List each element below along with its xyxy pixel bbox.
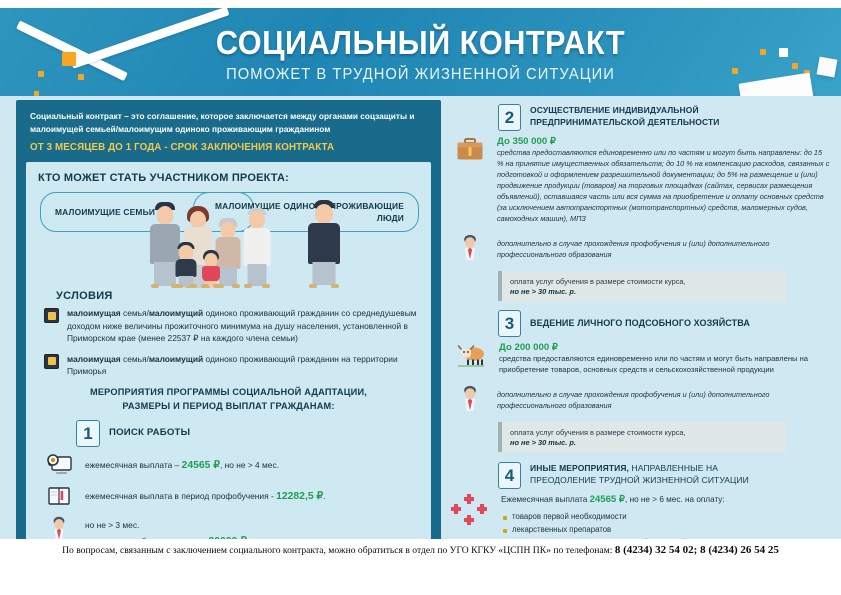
section-4-label-line2: ПРЕОДОЛЕНИЕ ТРУДНОЙ ЖИЗНЕННОЙ СИТУАЦИИ xyxy=(530,475,749,487)
section-4-number: 4 xyxy=(498,462,521,489)
section-1-label: ПОИСК РАБОТЫ xyxy=(109,427,190,439)
section-3-note-box: оплата услуг обучения в размере стоимост… xyxy=(498,422,786,452)
section-3-description: средства предоставляются единовременно и… xyxy=(499,353,830,376)
head xyxy=(157,206,174,225)
torso xyxy=(202,266,220,282)
condition-text-2: малоимущая семья/малоимущий одиноко прож… xyxy=(67,353,419,378)
section-2-extra-body: дополнительно в случае прохождения профо… xyxy=(497,234,830,264)
footer-text: По вопросам, связанным с заключением соц… xyxy=(62,544,779,556)
payment-row-1: ежемесячная выплата – 24565 ₽, но не > 4… xyxy=(46,454,419,478)
head xyxy=(205,253,218,267)
section-3-amount: 200 000 ₽ xyxy=(514,342,557,353)
head xyxy=(179,245,194,260)
left-panel-body: КТО МОЖЕТ СТАТЬ УЧАСТНИКОМ ПРОЕКТА: МАЛО… xyxy=(26,162,431,550)
shoe-right xyxy=(262,284,270,288)
list-item: лекарственных препаратов xyxy=(501,524,830,537)
condition-text-1: малоимущая семья/малоимущий одиноко прож… xyxy=(67,307,419,345)
legs xyxy=(154,262,176,286)
section-1-header: 1 ПОИСК РАБОТЫ xyxy=(76,420,419,447)
section-2-content: До 350 000 ₽ средства предоставляются ед… xyxy=(455,136,830,225)
top-white-stripe xyxy=(0,0,841,8)
family-people-graphic xyxy=(138,196,368,288)
section-2-note-line2: но не > 30 тыс. р. xyxy=(510,287,778,296)
decor-square-orange-4 xyxy=(34,91,39,96)
section-4-header: 4 ИНЫЕ МЕРОПРИЯТИЯ, НАПРАВЛЕННЫЕ НА ПРЕО… xyxy=(498,462,830,489)
section-3-label: ВЕДЕНИЕ ЛИЧНОГО ПОДСОБНОГО ХОЗЯЙСТВА xyxy=(530,316,750,330)
shoe-left xyxy=(244,284,252,288)
section-3-note-line1: оплата услуг обучения в размере стоимост… xyxy=(510,427,778,438)
who-can-participate-title: КТО МОЖЕТ СТАТЬ УЧАСТНИКОМ ПРОЕКТА: xyxy=(38,172,419,184)
person-tie-icon xyxy=(46,516,72,540)
section-4-label: ИНЫЕ МЕРОПРИЯТИЯ, НАПРАВЛЕННЫЕ НА ПРЕОДО… xyxy=(530,462,749,487)
measures-title-line2: РАЗМЕРЫ И ПЕРИОД ВЫПЛАТ ГРАЖДАНАМ: xyxy=(38,400,419,414)
section-2-note-line1: оплата услуг обучения в размере стоимост… xyxy=(510,276,778,287)
section-2-amount-line: До 350 000 ₽ xyxy=(497,136,830,147)
payment-text-2: ежемесячная выплата в период профобучени… xyxy=(85,485,325,505)
payment-text-1: ежемесячная выплата – 24565 ₽, но не > 4… xyxy=(85,454,279,474)
checkbox-checked-icon xyxy=(44,354,59,369)
section-4-payment-line: Ежемесячная выплата 24565 ₽, но не > 6 м… xyxy=(501,493,830,508)
shoe-right xyxy=(331,284,339,288)
section-2-description: средства предоставляются единовременно и… xyxy=(497,147,830,225)
section-3-extra-text: дополнительно в случае прохождения профо… xyxy=(497,385,830,411)
person-girl xyxy=(200,250,222,288)
infographic-page: СОЦИАЛЬНЫЙ КОНТРАКТ ПОМОЖЕТ В ТРУДНОЙ ЖИ… xyxy=(0,0,841,595)
head xyxy=(315,204,333,224)
right-column: 2 ОСУЩЕСТВЛЕНИЕ ИНДИВИДУАЛЬНОЙ ПРЕДПРИНИ… xyxy=(455,104,830,575)
legs xyxy=(248,264,267,286)
shoe-right xyxy=(232,284,240,288)
conditions-title: УСЛОВИЯ xyxy=(56,290,419,302)
section-2-amount: 350 000 ₽ xyxy=(512,136,555,147)
section-3-amount-line: До 200 000 ₽ xyxy=(499,342,830,353)
shoe-right xyxy=(189,284,197,288)
section-3-content: До 200 000 ₽ средства предоставляются ед… xyxy=(455,342,830,376)
torso xyxy=(176,259,197,277)
section-2-extra-text: дополнительно в случае прохождения профо… xyxy=(497,234,830,260)
checkbox-checked-icon xyxy=(44,308,59,323)
list-item: товаров первой необходимости xyxy=(501,511,830,524)
footer-phones: 8 (4234) 32 54 02; 8 (4234) 26 54 25 xyxy=(615,544,779,556)
page-subtitle: ПОМОЖЕТ В ТРУДНОЙ ЖИЗНЕННОЙ СИТУАЦИИ xyxy=(21,66,820,84)
section-3-number: 3 xyxy=(498,310,521,337)
header-banner: СОЦИАЛЬНЫЙ КОНТРАКТ ПОМОЖЕТ В ТРУДНОЙ ЖИ… xyxy=(0,8,841,96)
measures-title: МЕРОПРИЯТИЯ ПРОГРАММЫ СОЦИАЛЬНОЙ АДАПТАЦ… xyxy=(38,386,419,414)
section-2-header: 2 ОСУЩЕСТВЛЕНИЕ ИНДИВИДУАЛЬНОЙ ПРЕДПРИНИ… xyxy=(498,104,830,131)
condition-row-2: малоимущая семья/малоимущий одиноко прож… xyxy=(44,353,419,378)
shoe-left xyxy=(175,284,183,288)
torso xyxy=(244,228,271,266)
intro-text: Социальный контракт – это соглашение, ко… xyxy=(30,110,427,136)
section-2-note-box: оплата услуг обучения в размере стоимост… xyxy=(498,271,786,301)
section-2-label-line2: ПРЕДПРИНИМАТЕЛЬСКОЙ ДЕЯТЕЛЬНОСТИ xyxy=(530,117,720,129)
medical-crosses-icon xyxy=(449,493,489,527)
person-boy xyxy=(174,242,198,288)
payment-text-3-line1: но не > 3 мес. xyxy=(85,519,247,533)
section-4-label-line1: ИНЫЕ МЕРОПРИЯТИЯ, НАПРАВЛЕННЫЕ НА xyxy=(530,463,749,475)
monitor-search-icon xyxy=(46,454,72,478)
shoe-left xyxy=(151,284,159,288)
payment-amount-1: 24565 ₽ xyxy=(182,460,220,471)
intro-block: Социальный контракт – это соглашение, ко… xyxy=(16,100,441,161)
section-1-number: 1 xyxy=(76,420,100,447)
person-tie-icon xyxy=(455,385,485,415)
measures-title-line1: МЕРОПРИЯТИЯ ПРОГРАММЫ СОЦИАЛЬНОЙ АДАПТАЦ… xyxy=(38,386,419,400)
legs xyxy=(313,262,336,285)
head xyxy=(249,211,265,229)
briefcase-icon xyxy=(455,136,485,166)
condition-row-1: малоимущая семья/малоимущий одиноко прож… xyxy=(44,307,419,345)
section-3-extra-body: дополнительно в случае прохождения профо… xyxy=(497,385,830,415)
shoe-right xyxy=(213,284,221,288)
section-2-number: 2 xyxy=(498,104,521,131)
section-3-header: 3 ВЕДЕНИЕ ЛИЧНОГО ПОДСОБНОГО ХОЗЯЙСТВА xyxy=(498,310,830,337)
book-icon xyxy=(46,485,72,509)
section-3-extra: дополнительно в случае прохождения профо… xyxy=(455,385,830,415)
section-3-note-line2: но не > 30 тыс. р. xyxy=(510,438,778,447)
cow-icon xyxy=(455,342,487,372)
left-panel: Социальный контракт – это соглашение, ко… xyxy=(16,100,441,558)
person-single-man xyxy=(306,200,342,288)
section-2-label: ОСУЩЕСТВЛЕНИЕ ИНДИВИДУАЛЬНОЙ ПРЕДПРИНИМА… xyxy=(530,104,720,129)
torso xyxy=(308,223,340,264)
participants-illustration: МАЛОИМУЩИЕ СЕМЬИ МАЛОИМУЩИЕ ОДИНОКО ПРОЖ… xyxy=(38,190,419,288)
footer-contact-bar: По вопросам, связанным с заключением соц… xyxy=(0,539,841,561)
person-tie-icon xyxy=(455,234,485,264)
page-title: СОЦИАЛЬНЫЙ КОНТРАКТ xyxy=(29,24,811,62)
person-grandfather xyxy=(242,208,272,288)
section-2-body: До 350 000 ₽ средства предоставляются ед… xyxy=(497,136,830,225)
header-text-block: СОЦИАЛЬНЫЙ КОНТРАКТ ПОМОЖЕТ В ТРУДНОЙ ЖИ… xyxy=(0,8,841,84)
contract-term-text: ОТ 3 МЕСЯЦЕВ ДО 1 ГОДА - СРОК ЗАКЛЮЧЕНИЯ… xyxy=(30,142,427,153)
section-3-body: До 200 000 ₽ средства предоставляются ед… xyxy=(499,342,830,376)
section-4-amount: 24565 ₽ xyxy=(590,494,625,505)
section-2-label-line1: ОСУЩЕСТВЛЕНИЕ ИНДИВИДУАЛЬНОЙ xyxy=(530,105,720,117)
payment-row-2: ежемесячная выплата в период профобучени… xyxy=(46,485,419,509)
payment-amount-2: 12282,5 ₽ xyxy=(276,491,323,502)
section-2-extra: дополнительно в случае прохождения профо… xyxy=(455,234,830,264)
shoe-left xyxy=(201,284,209,288)
bottom-white-bar xyxy=(0,561,841,595)
shoe-left xyxy=(309,284,317,288)
